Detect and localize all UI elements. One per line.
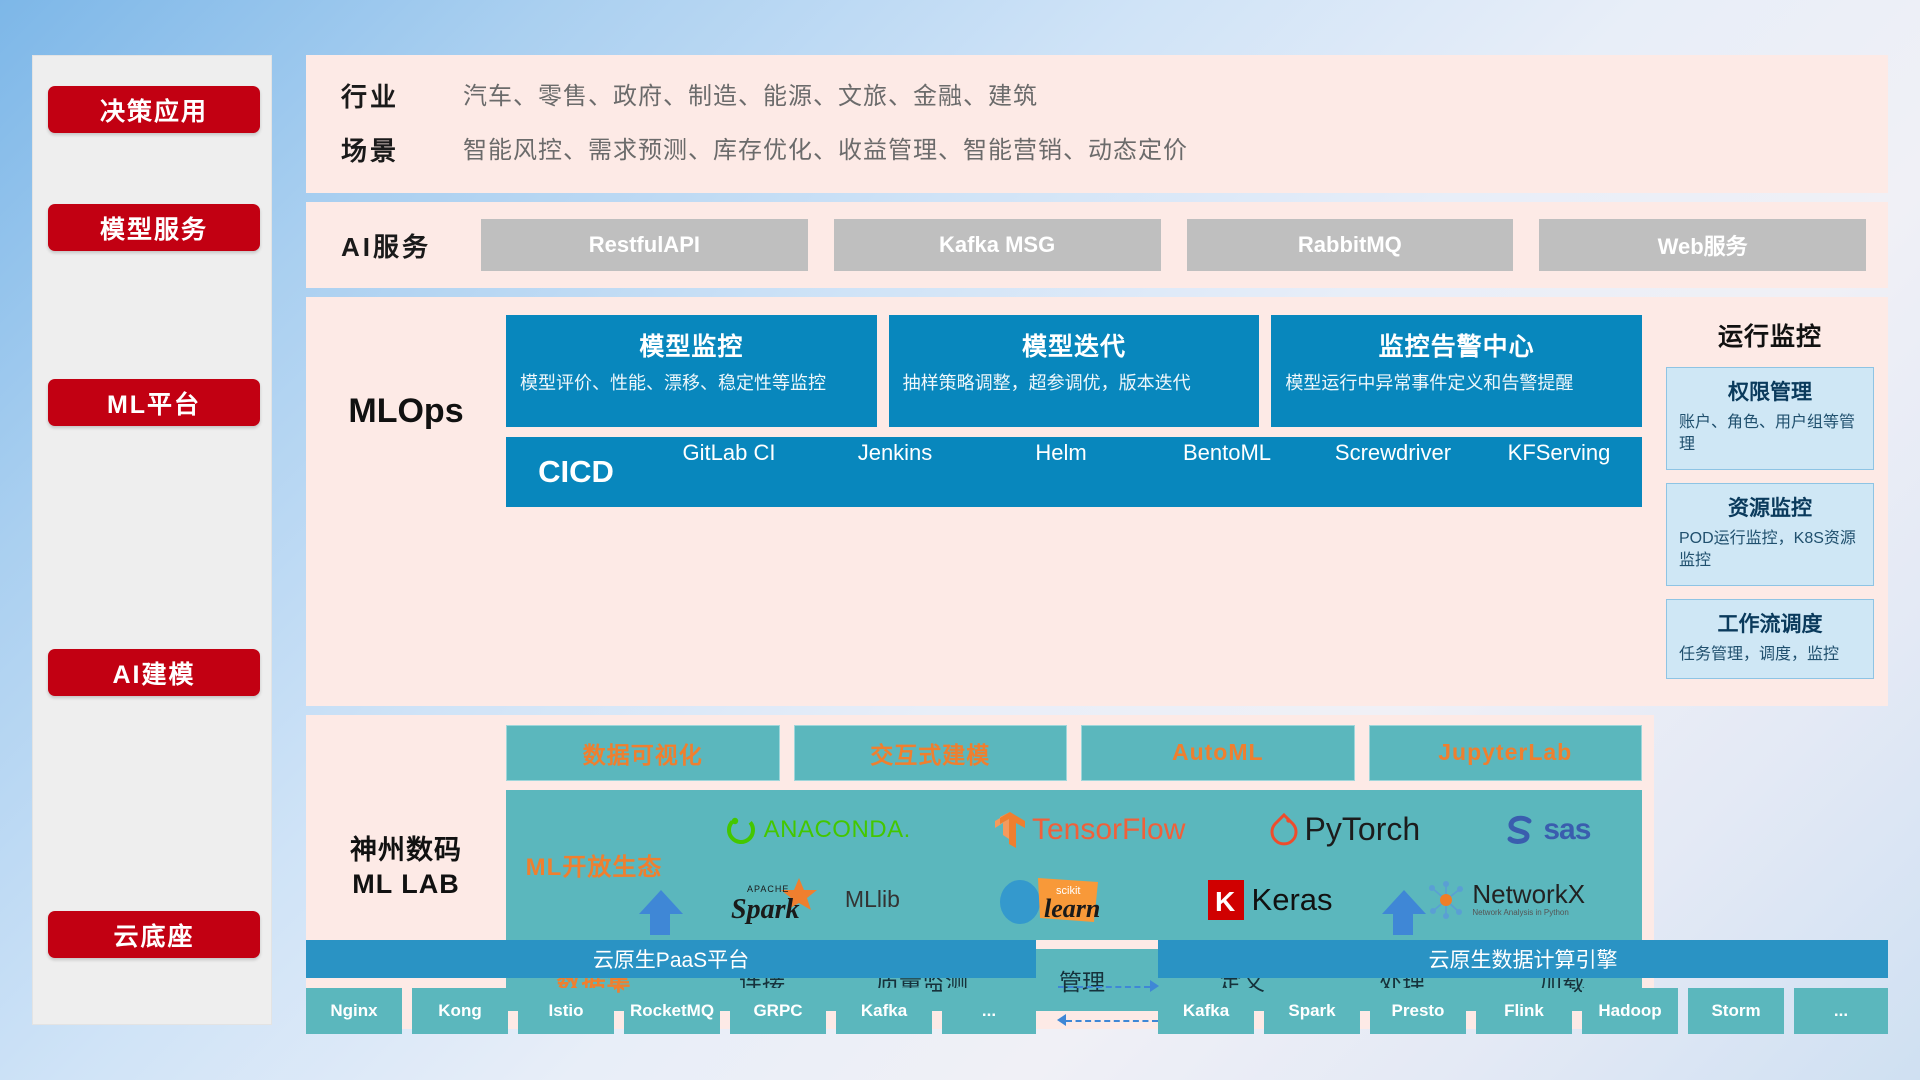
tensorflow-icon [994, 811, 1026, 849]
pytorch-logo-text: PyTorch [1305, 811, 1421, 848]
ecosystem-logo-row-1: ANACONDA. TensorFlow [682, 797, 1632, 863]
layer-button-aimodeling[interactable]: AI建模 [48, 649, 260, 696]
mlops-band: MLOps 模型监控 模型评价、性能、漂移、稳定性等监控 模型迭代 抽样策略调整… [306, 297, 1654, 706]
decision-applications-band: 行业 场景 汽车、零售、政府、制造、能源、文旅、金融、建筑 智能风控、需求预测、… [306, 55, 1888, 193]
card-title: 模型迭代 [903, 327, 1246, 363]
layer-button-mlplatform[interactable]: ML平台 [48, 379, 260, 426]
cloud-data-engine-title: 云原生数据计算引擎 [1158, 940, 1888, 978]
engine-pill-hadoop[interactable]: Hadoop [1582, 988, 1678, 1034]
tool-chip-automl[interactable]: AutoML [1081, 725, 1355, 781]
runtime-monitoring-title: 运行监控 [1666, 317, 1874, 353]
tool-chip-jupyterlab[interactable]: JupyterLab [1369, 725, 1643, 781]
monitor-card-permissions[interactable]: 权限管理 账户、角色、用户组等管理 [1666, 367, 1874, 470]
band-divider [306, 706, 1888, 715]
uplink-arrow-left-head [639, 890, 683, 914]
ml-lab-label-line1: 神州数码 [350, 834, 462, 868]
card-title: 资源监控 [1679, 492, 1861, 522]
cicd-item-gitlab-ci[interactable]: GitLab CI [646, 437, 812, 507]
cicd-item-label: Jenkins [812, 437, 978, 471]
paas-pill-kong[interactable]: Kong [412, 988, 508, 1034]
paas-pill-rocketmq[interactable]: RocketMQ [624, 988, 720, 1034]
band-divider [306, 288, 1888, 297]
paas-pill-nginx[interactable]: Nginx [306, 988, 402, 1034]
cicd-item-label: BentoML [1144, 437, 1310, 471]
cloud-foundation-section: 云原生PaaS平台 云原生数据计算引擎 Nginx Kong Istio Roc… [306, 890, 1888, 1040]
tensorflow-logo-text: TensorFlow [1032, 813, 1185, 847]
tool-chip-data-visualization[interactable]: 数据可视化 [506, 725, 780, 781]
architecture-main: 行业 场景 汽车、零售、政府、制造、能源、文旅、金融、建筑 智能风控、需求预测、… [306, 55, 1888, 1029]
pytorch-logo: PyTorch [1269, 811, 1421, 848]
mlops-card-model-iteration[interactable]: 模型迭代 抽样策略调整，超参调优，版本迭代 [889, 315, 1260, 427]
cicd-bar: CICD GitLab CI Jenkins Helm BentoML Scre… [506, 437, 1642, 507]
engine-pill-spark[interactable]: Spark [1264, 988, 1360, 1034]
mlops-label: MLOps [306, 315, 506, 507]
layer-rail: 决策应用 模型服务 ML平台 AI建模 云底座 [32, 55, 272, 1025]
ai-services-label: AI服务 [341, 227, 463, 264]
anaconda-logo-text: ANACONDA. [764, 816, 911, 844]
apps-row-key-scenario: 场景 [341, 124, 463, 178]
paas-pill-row: Nginx Kong Istio RocketMQ GRPC Kafka ... [306, 988, 1036, 1034]
service-chip-rabbitmq[interactable]: RabbitMQ [1187, 219, 1514, 271]
exchange-arrow-left-head [1057, 1014, 1066, 1026]
tool-chip-interactive-modeling[interactable]: 交互式建模 [794, 725, 1068, 781]
sas-logo: sas [1503, 813, 1590, 847]
card-desc: 抽样策略调整，超参调优，版本迭代 [903, 371, 1246, 395]
apps-row-value-scenario: 智能风控、需求预测、库存优化、收益管理、智能营销、动态定价 [463, 124, 1188, 178]
uplink-arrow-left-stem [650, 913, 670, 935]
pytorch-icon [1269, 812, 1299, 848]
ai-services-list: RestfulAPI Kafka MSG RabbitMQ Web服务 [463, 219, 1866, 271]
uplink-arrow-right-head [1382, 890, 1426, 914]
card-title: 权限管理 [1679, 376, 1861, 406]
mlops-card-model-monitoring[interactable]: 模型监控 模型评价、性能、漂移、稳定性等监控 [506, 315, 877, 427]
apps-row-value-industry: 汽车、零售、政府、制造、能源、文旅、金融、建筑 [463, 70, 1188, 124]
service-chip-web[interactable]: Web服务 [1539, 219, 1866, 271]
engine-pill-kafka[interactable]: Kafka [1158, 988, 1254, 1034]
service-chip-kafka-msg[interactable]: Kafka MSG [834, 219, 1161, 271]
card-desc: 模型运行中异常事件定义和告警提醒 [1285, 371, 1628, 395]
layer-button-modelsvc[interactable]: 模型服务 [48, 204, 260, 251]
cicd-item-bentoml[interactable]: BentoML [1144, 437, 1310, 507]
card-desc: 任务管理，调度，监控 [1679, 644, 1861, 666]
cicd-item-label: GitLab CI [646, 437, 812, 471]
engine-pill-storm[interactable]: Storm [1688, 988, 1784, 1034]
cicd-item-label: KFServing [1476, 437, 1642, 471]
card-title: 工作流调度 [1679, 608, 1861, 638]
paas-pill-more[interactable]: ... [942, 988, 1036, 1034]
monitor-card-workflow[interactable]: 工作流调度 任务管理，调度，监控 [1666, 599, 1874, 679]
layer-button-cloudbase[interactable]: 云底座 [48, 911, 260, 958]
ai-services-band: AI服务 RestfulAPI Kafka MSG RabbitMQ Web服务 [306, 202, 1888, 288]
engine-pill-presto[interactable]: Presto [1370, 988, 1466, 1034]
data-engine-pill-row: Kafka Spark Presto Flink Hadoop Storm ..… [1158, 988, 1888, 1034]
layer-button-decision[interactable]: 决策应用 [48, 86, 260, 133]
cicd-item-jenkins[interactable]: Jenkins [812, 437, 978, 507]
apps-label-column: 行业 场景 [341, 70, 463, 178]
paas-pill-grpc[interactable]: GRPC [730, 988, 826, 1034]
cicd-label: CICD [506, 454, 646, 490]
paas-pill-kafka[interactable]: Kafka [836, 988, 932, 1034]
apps-value-column: 汽车、零售、政府、制造、能源、文旅、金融、建筑 智能风控、需求预测、库存优化、收… [463, 70, 1188, 178]
exchange-arrow-right-head [1150, 980, 1159, 992]
card-desc: POD运行监控，K8S资源监控 [1679, 528, 1861, 573]
cicd-item-label: Helm [978, 437, 1144, 471]
engine-pill-more[interactable]: ... [1794, 988, 1888, 1034]
engine-pill-flink[interactable]: Flink [1476, 988, 1572, 1034]
paas-pill-istio[interactable]: Istio [518, 988, 614, 1034]
card-title: 模型监控 [520, 327, 863, 363]
card-title: 监控告警中心 [1285, 327, 1628, 363]
sas-icon [1503, 813, 1537, 847]
ml-ecosystem-label: ML开放生态 [506, 847, 682, 882]
monitor-card-resources[interactable]: 资源监控 POD运行监控，K8S资源监控 [1666, 483, 1874, 586]
band-divider [306, 193, 1888, 202]
card-desc: 模型评价、性能、漂移、稳定性等监控 [520, 371, 863, 395]
mlops-card-row: 模型监控 模型评价、性能、漂移、稳定性等监控 模型迭代 抽样策略调整，超参调优，… [506, 315, 1642, 427]
exchange-arrow-left-line [1066, 1020, 1158, 1022]
cicd-item-kfserving[interactable]: KFServing [1476, 437, 1642, 507]
cicd-item-helm[interactable]: Helm [978, 437, 1144, 507]
apps-row-key-industry: 行业 [341, 70, 463, 124]
cicd-item-label: Screwdriver [1310, 437, 1476, 471]
uplink-arrow-right-stem [1393, 913, 1413, 935]
cicd-item-screwdriver[interactable]: Screwdriver [1310, 437, 1476, 507]
card-desc: 账户、角色、用户组等管理 [1679, 412, 1861, 457]
mlops-card-alert-center[interactable]: 监控告警中心 模型运行中异常事件定义和告警提醒 [1271, 315, 1642, 427]
anaconda-icon [724, 813, 758, 847]
tensorflow-logo: TensorFlow [994, 811, 1185, 849]
service-chip-restfulapi[interactable]: RestfulAPI [481, 219, 808, 271]
modeling-tool-row: 数据可视化 交互式建模 AutoML JupyterLab [506, 725, 1642, 781]
exchange-arrow-right-line [1058, 986, 1150, 988]
cloud-paas-title: 云原生PaaS平台 [306, 940, 1036, 978]
sas-logo-text: sas [1543, 813, 1590, 847]
mlops-row: MLOps 模型监控 模型评价、性能、漂移、稳定性等监控 模型迭代 抽样策略调整… [306, 297, 1888, 706]
runtime-monitoring-panel: 运行监控 权限管理 账户、角色、用户组等管理 资源监控 POD运行监控，K8S资… [1654, 297, 1888, 706]
anaconda-logo: ANACONDA. [724, 813, 911, 847]
